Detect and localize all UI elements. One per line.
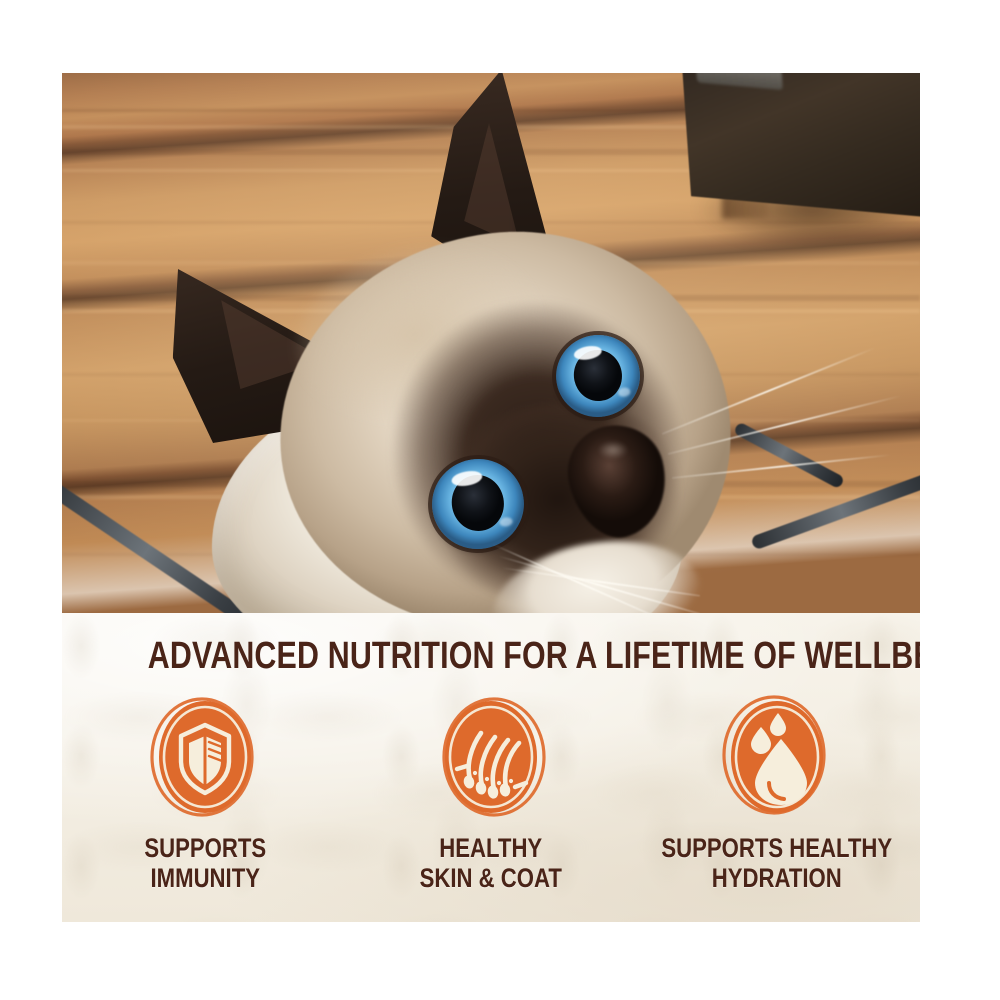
- cat-eye-right: [550, 328, 647, 423]
- panel-headline: ADVANCED NUTRITION FOR A LIFETIME OF WEL…: [148, 635, 834, 678]
- feature-label-line1: SUPPORTS HEALTHY: [662, 833, 893, 863]
- cat-eye-left: [425, 452, 531, 557]
- feature-label-line1: SUPPORTS: [144, 833, 266, 863]
- cat-nose-highlight: [598, 441, 628, 459]
- benefits-panel: ADVANCED NUTRITION FOR A LIFETIME OF WEL…: [62, 613, 920, 922]
- product-feature-card: ADVANCED NUTRITION FOR A LIFETIME OF WEL…: [62, 73, 920, 922]
- feature-label-line2: SKIN & COAT: [420, 863, 562, 893]
- feature-supports-immunity: SUPPORTS IMMUNITY: [62, 695, 348, 893]
- feature-label: SUPPORTS HEALTHY HYDRATION: [662, 833, 893, 893]
- cat-photo: [62, 73, 920, 613]
- feature-list: SUPPORTS IMMUNITY: [62, 695, 920, 915]
- feature-label-line2: HYDRATION: [712, 863, 842, 893]
- feature-label: HEALTHY SKIN & COAT: [420, 833, 562, 893]
- screenshot-root: ADVANCED NUTRITION FOR A LIFETIME OF WEL…: [0, 0, 1000, 1000]
- feature-supports-healthy-hydration: SUPPORTS HEALTHY HYDRATION: [634, 695, 920, 893]
- hair-follicle-icon: [429, 695, 553, 819]
- shield-icon: [143, 695, 267, 819]
- siamese-cat: [62, 73, 920, 613]
- feature-label: SUPPORTS IMMUNITY: [144, 833, 266, 893]
- feature-label-line2: IMMUNITY: [150, 863, 259, 893]
- water-droplet-icon: [715, 695, 839, 819]
- feature-healthy-skin-and-coat: HEALTHY SKIN & COAT: [348, 695, 634, 893]
- feature-label-line1: HEALTHY: [440, 833, 543, 863]
